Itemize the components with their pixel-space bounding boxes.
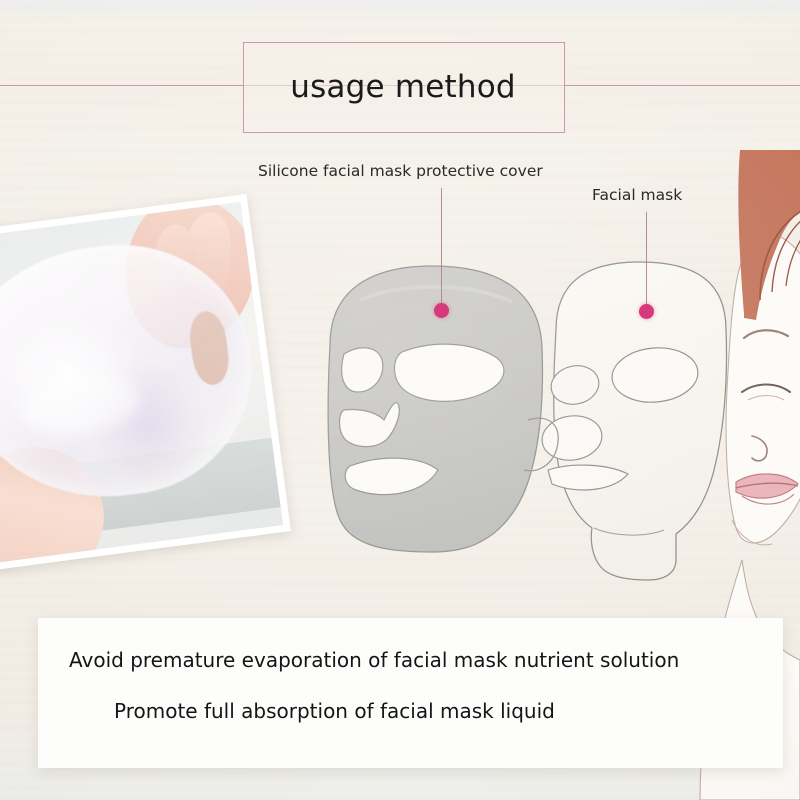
promo-graphic-canvas: usage method Silicone facial mask protec… — [0, 0, 800, 800]
callout-dot-silicone-cover — [434, 303, 449, 318]
callout-label-silicone-cover: Silicone facial mask protective cover — [258, 162, 543, 180]
benefit-line-2: Promote full absorption of facial mask l… — [114, 699, 555, 723]
benefit-line-1: Avoid premature evaporation of facial ma… — [69, 648, 679, 672]
callout-label-facial-mask: Facial mask — [592, 186, 682, 204]
callout-dot-facial-mask — [639, 304, 654, 319]
page-title: usage method — [243, 42, 563, 131]
photo-inset-frame — [0, 194, 291, 570]
sheet-facial-mask — [539, 262, 726, 580]
sheet-eye-opening — [187, 309, 232, 387]
callout-leader-line-silicone-cover — [441, 188, 442, 306]
photo-inset-image — [0, 202, 283, 563]
benefits-panel — [38, 618, 783, 768]
callout-leader-line-facial-mask — [646, 212, 647, 308]
